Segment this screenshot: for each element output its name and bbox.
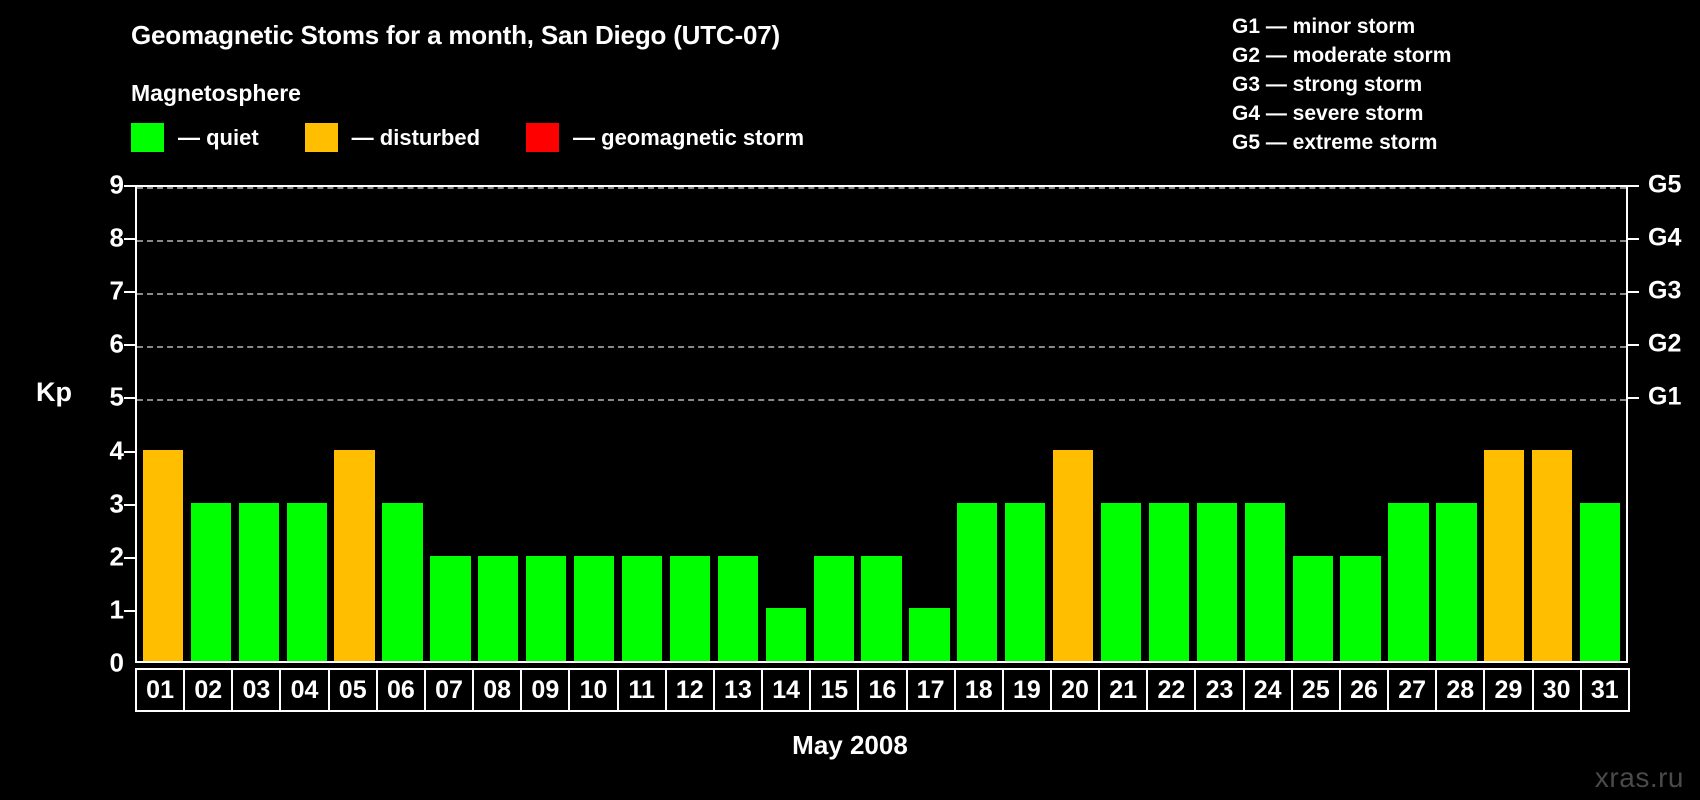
g-tick-label: G4 — [1648, 224, 1681, 253]
y-tick-label: 1 — [78, 594, 124, 625]
storm-scale-key-line: G2 — moderate storm — [1232, 41, 1451, 70]
x-axis-day-label: 02 — [183, 668, 233, 712]
x-axis-day-label: 25 — [1291, 668, 1341, 712]
bar[interactable] — [1149, 503, 1189, 661]
x-axis-day-label: 27 — [1387, 668, 1437, 712]
y-tick-label: 0 — [78, 648, 124, 679]
bar[interactable] — [430, 556, 470, 661]
g-tick-mark — [1628, 291, 1639, 293]
bar-slot — [1001, 187, 1049, 661]
bar[interactable] — [1580, 503, 1620, 661]
y-tick-label: 5 — [78, 382, 124, 413]
x-axis-day-label: 01 — [135, 668, 185, 712]
g-tick-mark — [1628, 185, 1639, 187]
y-tick-mark — [124, 238, 135, 240]
green-square-icon — [131, 123, 164, 152]
bar-slot — [474, 187, 522, 661]
y-tick-mark — [124, 344, 135, 346]
storm-scale-key: G1 — minor stormG2 — moderate stormG3 — … — [1232, 12, 1451, 157]
orange-square-icon — [305, 123, 338, 152]
x-axis-day-label: 08 — [472, 668, 522, 712]
x-axis-day-label: 07 — [424, 668, 474, 712]
bar-slot — [1385, 187, 1433, 661]
bar[interactable] — [574, 556, 614, 661]
bar-slot — [1576, 187, 1624, 661]
bar[interactable] — [1005, 503, 1045, 661]
y-tick-mark — [124, 557, 135, 559]
y-tick-mark — [124, 185, 135, 187]
bar-slot — [858, 187, 906, 661]
bar[interactable] — [1340, 556, 1380, 661]
x-axis-day-label: 29 — [1483, 668, 1533, 712]
x-axis-day-label: 26 — [1339, 668, 1389, 712]
x-axis-day-label: 22 — [1146, 668, 1196, 712]
x-axis-day-label: 12 — [665, 668, 715, 712]
bar[interactable] — [382, 503, 422, 661]
x-axis-day-label: 23 — [1194, 668, 1244, 712]
bar-slot — [187, 187, 235, 661]
g-tick-mark — [1628, 238, 1639, 240]
g-tick-label: G5 — [1648, 171, 1681, 200]
x-axis-day-label: 06 — [376, 668, 426, 712]
bar-slot — [1097, 187, 1145, 661]
bar[interactable] — [861, 556, 901, 661]
bar-slot — [1528, 187, 1576, 661]
x-axis-day-label: 04 — [279, 668, 329, 712]
y-tick-mark — [124, 291, 135, 293]
bar-slot — [283, 187, 331, 661]
y-tick-mark — [124, 451, 135, 453]
bar-slot — [953, 187, 1001, 661]
legend-item-label: — quiet — [178, 125, 259, 151]
bar-slot — [618, 187, 666, 661]
bar[interactable] — [957, 503, 997, 661]
bar-slot — [714, 187, 762, 661]
bar[interactable] — [718, 556, 758, 661]
bar[interactable] — [766, 608, 806, 661]
legend-item: — geomagnetic storm — [526, 123, 850, 152]
y-tick-mark — [124, 610, 135, 612]
legend: — quiet— disturbed— geomagnetic storm — [131, 123, 850, 152]
x-axis-day-label: 28 — [1435, 668, 1485, 712]
bar[interactable] — [622, 556, 662, 661]
x-axis-day-label: 19 — [1002, 668, 1052, 712]
x-axis-day-label: 11 — [617, 668, 667, 712]
x-axis-day-label: 24 — [1243, 668, 1293, 712]
legend-item: — quiet — [131, 123, 305, 152]
red-square-icon — [526, 123, 559, 152]
bar-slot — [1049, 187, 1097, 661]
bar-slot — [810, 187, 858, 661]
y-axis-kp: 0123456789 — [78, 185, 124, 663]
bar[interactable] — [191, 503, 231, 661]
y-axis-gscale: G1G2G3G4G5 — [1648, 185, 1700, 663]
bar-slot — [331, 187, 379, 661]
x-axis-day-label: 09 — [520, 668, 570, 712]
bar-slot — [1241, 187, 1289, 661]
x-axis-day-label: 17 — [906, 668, 956, 712]
bar-slot — [1145, 187, 1193, 661]
y-tick-label: 8 — [78, 223, 124, 254]
x-axis-day-label: 30 — [1532, 668, 1582, 712]
bar-slot — [906, 187, 954, 661]
bar[interactable] — [239, 503, 279, 661]
bar[interactable] — [1053, 450, 1093, 661]
bar-slot — [1432, 187, 1480, 661]
storm-scale-key-line: G1 — minor storm — [1232, 12, 1451, 41]
bar-slot — [1480, 187, 1528, 661]
bar[interactable] — [334, 450, 374, 661]
legend-heading: Magnetosphere — [131, 80, 301, 107]
bar[interactable] — [1245, 503, 1285, 661]
legend-item-label: — disturbed — [352, 125, 480, 151]
x-axis-day-label: 03 — [231, 668, 281, 712]
bar-slot — [379, 187, 427, 661]
x-axis-day-label: 16 — [857, 668, 907, 712]
storm-scale-key-line: G4 — severe storm — [1232, 99, 1451, 128]
bar[interactable] — [287, 503, 327, 661]
y-tick-mark — [124, 504, 135, 506]
storm-scale-key-line: G3 — strong storm — [1232, 70, 1451, 99]
chart-root: Geomagnetic Stoms for a month, San Diego… — [0, 0, 1700, 800]
y-tick-label: 2 — [78, 541, 124, 572]
bar-slot — [762, 187, 810, 661]
bar[interactable] — [1484, 450, 1524, 661]
legend-item: — disturbed — [305, 123, 526, 152]
bar[interactable] — [526, 556, 566, 661]
g-tick-mark — [1628, 344, 1639, 346]
bar[interactable] — [909, 608, 949, 661]
bar-slot — [522, 187, 570, 661]
page-title: Geomagnetic Stoms for a month, San Diego… — [131, 20, 780, 51]
legend-item-label: — geomagnetic storm — [573, 125, 804, 151]
x-axis-day-label: 05 — [328, 668, 378, 712]
y-tick-label: 3 — [78, 488, 124, 519]
bar[interactable] — [814, 556, 854, 661]
bar[interactable] — [143, 450, 183, 661]
y-tick-label: 4 — [78, 435, 124, 466]
g-tick-label: G2 — [1648, 330, 1681, 359]
bar-series — [137, 187, 1626, 661]
bar-slot — [1337, 187, 1385, 661]
bar-slot — [1289, 187, 1337, 661]
x-axis-day-label: 31 — [1580, 668, 1630, 712]
bar[interactable] — [1101, 503, 1141, 661]
x-axis-day-label: 13 — [713, 668, 763, 712]
bar[interactable] — [670, 556, 710, 661]
bar[interactable] — [478, 556, 518, 661]
bar-slot — [139, 187, 187, 661]
x-axis-day-label: 20 — [1050, 668, 1100, 712]
watermark: xras.ru — [1595, 762, 1684, 794]
y-axis-title: Kp — [36, 377, 72, 408]
bar[interactable] — [1293, 556, 1333, 661]
plot-area — [135, 185, 1628, 663]
x-axis-days: 0102030405060708091011121314151617181920… — [135, 668, 1628, 712]
g-tick-label: G3 — [1648, 277, 1681, 306]
bar[interactable] — [1532, 450, 1572, 661]
g-tick-mark — [1628, 397, 1639, 399]
x-axis-day-label: 18 — [954, 668, 1004, 712]
x-axis-day-label: 14 — [761, 668, 811, 712]
x-axis-day-label: 21 — [1098, 668, 1148, 712]
y-tick-label: 9 — [78, 170, 124, 201]
g-tick-label: G1 — [1648, 383, 1681, 412]
x-axis-day-label: 10 — [568, 668, 618, 712]
x-axis-caption: May 2008 — [0, 730, 1700, 761]
bar[interactable] — [1388, 503, 1428, 661]
bar[interactable] — [1197, 503, 1237, 661]
bar-slot — [426, 187, 474, 661]
y-tick-label: 7 — [78, 276, 124, 307]
storm-scale-key-line: G5 — extreme storm — [1232, 128, 1451, 157]
bar-slot — [1193, 187, 1241, 661]
x-axis-day-label: 15 — [809, 668, 859, 712]
bar[interactable] — [1436, 503, 1476, 661]
y-tick-mark — [124, 397, 135, 399]
bar-slot — [235, 187, 283, 661]
bar-slot — [570, 187, 618, 661]
bar-slot — [666, 187, 714, 661]
y-tick-label: 6 — [78, 329, 124, 360]
